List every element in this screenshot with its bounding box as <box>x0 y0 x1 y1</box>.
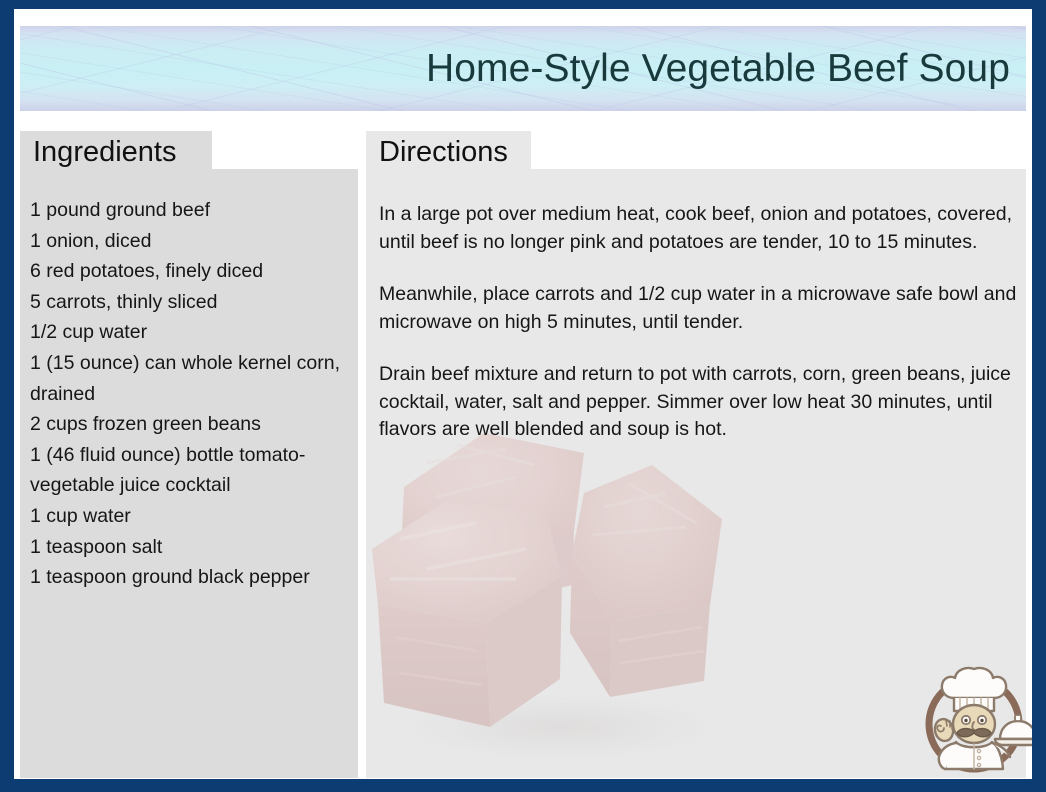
recipe-slide: Home-Style Vegetable Beef Soup Ingredien… <box>0 0 1046 792</box>
list-item: 5 carrots, thinly sliced <box>30 287 356 318</box>
list-item: 1 pound ground beef <box>30 195 356 226</box>
list-item: 1 teaspoon ground black pepper <box>30 562 356 593</box>
ingredients-heading-label: Ingredients <box>33 136 177 168</box>
ingredients-header: Ingredients <box>20 131 212 173</box>
ingredients-list: 1 pound ground beef 1 onion, diced 6 red… <box>30 195 356 593</box>
directions-header: Directions <box>366 131 531 173</box>
directions-heading-label: Directions <box>379 136 508 168</box>
direction-step: Meanwhile, place carrots and 1/2 cup wat… <box>379 281 1024 336</box>
directions-list: In a large pot over medium heat, cook be… <box>379 201 1024 444</box>
list-item: 1 cup water <box>30 501 356 532</box>
list-item: 1/2 cup water <box>30 317 356 348</box>
page-title: Home-Style Vegetable Beef Soup <box>426 46 1010 92</box>
list-item: 1 onion, diced <box>30 226 356 257</box>
direction-step: Drain beef mixture and return to pot wit… <box>379 361 1024 444</box>
title-banner: Home-Style Vegetable Beef Soup <box>20 26 1026 111</box>
slide-canvas: Home-Style Vegetable Beef Soup Ingredien… <box>14 9 1032 779</box>
list-item: 2 cups frozen green beans <box>30 409 356 440</box>
list-item: 6 red potatoes, finely diced <box>30 256 356 287</box>
list-item: 1 (46 fluid ounce) bottle tomato-vegetab… <box>30 440 356 501</box>
list-item: 1 teaspoon salt <box>30 532 356 563</box>
direction-step: In a large pot over medium heat, cook be… <box>379 201 1024 256</box>
list-item: 1 (15 ounce) can whole kernel corn, drai… <box>30 348 356 409</box>
chef-mascot-logo-icon <box>910 654 1032 779</box>
